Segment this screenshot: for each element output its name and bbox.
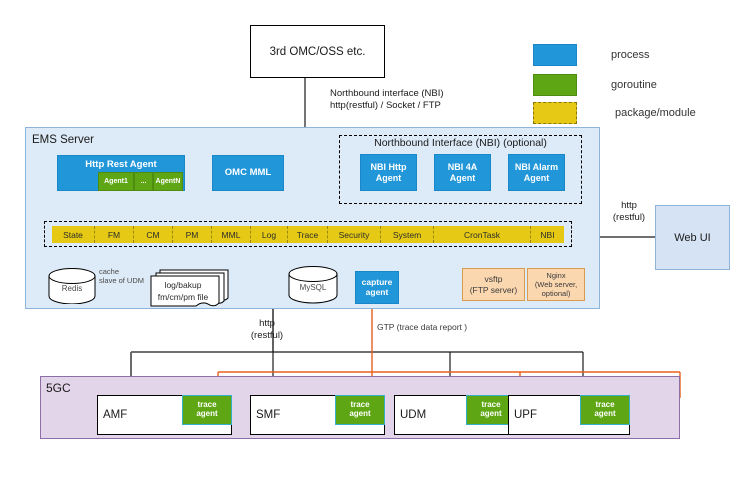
gtp-label-text: GTP (trace data report )	[377, 322, 467, 332]
package-cell-pm[interactable]: PM	[172, 226, 211, 243]
legend-swatch-goroutine-icon	[533, 74, 577, 96]
package-label-crontask: CronTask	[464, 230, 500, 240]
redis-note-line2: slave of UDM	[99, 276, 144, 285]
5gc-title: 5GC	[46, 381, 71, 395]
legend-label-process: process	[611, 49, 650, 61]
http-restful-edge-label: http (restful)	[242, 318, 292, 343]
trace-agent-smf-line2: agent	[349, 410, 370, 419]
package-cell-log[interactable]: Log	[250, 226, 287, 243]
legend-swatch-package-icon	[533, 102, 577, 124]
package-cell-cm[interactable]: CM	[133, 226, 172, 243]
redis-label: Redis	[48, 284, 96, 293]
package-cell-trace[interactable]: Trace	[287, 226, 327, 243]
nbi-http-agent-line1: NBI Http	[371, 162, 407, 172]
log-backup-line1: log/bakup	[148, 280, 218, 290]
package-label-cm: CM	[146, 230, 159, 240]
log-backup-line2: fm/cm/pm file	[148, 292, 218, 302]
nbi-edge-label: Northbound interface (NBI) http(restful)…	[330, 88, 444, 113]
trace-agent-udm-line2: agent	[480, 410, 501, 419]
network-function-amf[interactable]: AMF trace agent	[97, 395, 232, 435]
nbi-edge-label-line1: Northbound interface (NBI)	[330, 88, 444, 100]
goroutine-ellipsis-label: ...	[141, 178, 147, 186]
package-cell-fm[interactable]: FM	[94, 226, 133, 243]
nbi-http-agent-line2: Agent	[376, 173, 402, 183]
nginx-line1: Nginx	[546, 271, 565, 280]
trace-agent-upf-line2: agent	[594, 410, 615, 419]
nbi-4a-agent-line2: Agent	[450, 173, 476, 183]
nginx-service-box[interactable]: Nginx (Web server, optional)	[527, 268, 585, 301]
gtp-edge-label: GTP (trace data report )	[377, 322, 467, 333]
redis-note: cache slave of UDM	[99, 267, 144, 286]
trace-agent-amf[interactable]: trace agent	[182, 395, 232, 425]
package-cell-crontask[interactable]: CronTask	[433, 226, 530, 243]
smf-label: SMF	[256, 409, 280, 421]
package-label-mml: MML	[222, 230, 241, 240]
legend-item-process: process	[533, 42, 748, 68]
log-backup-file-icon[interactable]: log/bakup fm/cm/pm file	[148, 266, 230, 308]
trace-agent-amf-line2: agent	[196, 410, 217, 419]
package-label-fm: FM	[108, 230, 120, 240]
http-restful-line1: http	[242, 318, 292, 330]
goroutine-agentN-label: AgentN	[156, 178, 181, 186]
upf-label: UPF	[514, 409, 537, 421]
legend-swatch-process-icon	[533, 44, 577, 66]
package-cell-security[interactable]: Security	[327, 226, 380, 243]
trace-agent-smf[interactable]: trace agent	[335, 395, 385, 425]
legend-label-goroutine: goroutine	[611, 79, 657, 91]
nginx-line3: optional)	[542, 289, 571, 298]
udm-label: UDM	[400, 409, 426, 421]
ems-server-title: EMS Server	[32, 134, 94, 146]
goroutine-agentN[interactable]: AgentN	[153, 172, 183, 191]
package-cell-system[interactable]: System	[380, 226, 433, 243]
third-party-omc-oss-box[interactable]: 3rd OMC/OSS etc.	[250, 25, 385, 78]
capture-agent-line2: agent	[366, 288, 389, 298]
legend-item-goroutine: goroutine	[533, 71, 748, 98]
nbi-4a-agent-box[interactable]: NBI 4A Agent	[434, 154, 491, 191]
legend: process goroutine package/module	[533, 42, 748, 126]
web-ui-label: Web UI	[674, 232, 710, 244]
package-label-nbi: NBI	[540, 230, 554, 240]
http-rest-agent-title: Http Rest Agent	[85, 160, 156, 171]
omc-mml-box[interactable]: OMC MML	[212, 155, 284, 191]
legend-item-package: package/module	[533, 99, 748, 126]
http-restful-line2: (restful)	[242, 330, 292, 342]
diagram-canvas: 3rd OMC/OSS etc. Northbound interface (N…	[0, 0, 751, 481]
nbi-alarm-agent-line2: Agent	[524, 173, 550, 183]
package-label-trace: Trace	[297, 230, 318, 240]
package-label-log: Log	[262, 230, 276, 240]
omc-mml-label: OMC MML	[225, 168, 271, 179]
network-function-smf[interactable]: SMF trace agent	[250, 395, 385, 435]
package-cell-nbi[interactable]: NBI	[530, 226, 564, 243]
package-label-pm: PM	[186, 230, 199, 240]
goroutine-agent1-label: Agent1	[104, 178, 128, 186]
network-function-upf[interactable]: UPF trace agent	[508, 395, 630, 435]
amf-label: AMF	[103, 409, 127, 421]
http-rest-agent-goroutines: Agent1 ... AgentN	[98, 172, 183, 189]
package-label-state: State	[63, 230, 83, 240]
vsftp-line2: (FTP server)	[470, 285, 518, 295]
trace-agent-upf[interactable]: trace agent	[580, 395, 630, 425]
nginx-line2: (Web server,	[535, 280, 577, 289]
capture-agent-box[interactable]: capture agent	[355, 271, 399, 304]
package-label-security: Security	[339, 230, 370, 240]
webui-edge-line2: (restful)	[605, 212, 653, 224]
nbi-group-title: Northbound Interface (NBI) (optional)	[339, 137, 582, 149]
network-function-udm[interactable]: UDM trace agent	[394, 395, 516, 435]
goroutine-agent1[interactable]: Agent1	[98, 172, 134, 191]
nbi-edge-label-line2: http(restful) / Socket / FTP	[330, 100, 444, 112]
goroutine-ellipsis: ...	[134, 172, 153, 191]
third-party-omc-oss-label: 3rd OMC/OSS etc.	[270, 46, 366, 58]
webui-edge-label: http (restful)	[605, 200, 653, 225]
vsftp-line1: vsftp	[485, 274, 503, 284]
package-label-system: System	[393, 230, 421, 240]
redis-note-line1: cache	[99, 267, 144, 276]
mysql-database-icon[interactable]: MySQL	[288, 266, 338, 304]
webui-edge-line1: http	[605, 200, 653, 212]
nbi-alarm-agent-box[interactable]: NBI Alarm Agent	[508, 154, 565, 191]
package-module-bar: State FM CM PM MML Log Trace Security Sy…	[52, 226, 564, 243]
package-cell-mml[interactable]: MML	[211, 226, 250, 243]
nbi-4a-agent-line1: NBI 4A	[448, 162, 478, 172]
nbi-alarm-agent-line1: NBI Alarm	[515, 162, 558, 172]
redis-database-icon[interactable]: Redis	[48, 268, 96, 304]
legend-label-package: package/module	[615, 107, 696, 119]
nbi-http-agent-box[interactable]: NBI Http Agent	[360, 154, 417, 191]
vsftp-service-box[interactable]: vsftp (FTP server)	[462, 268, 525, 301]
package-cell-state[interactable]: State	[52, 226, 94, 243]
web-ui-box[interactable]: Web UI	[655, 205, 730, 270]
mysql-label: MySQL	[288, 283, 338, 292]
